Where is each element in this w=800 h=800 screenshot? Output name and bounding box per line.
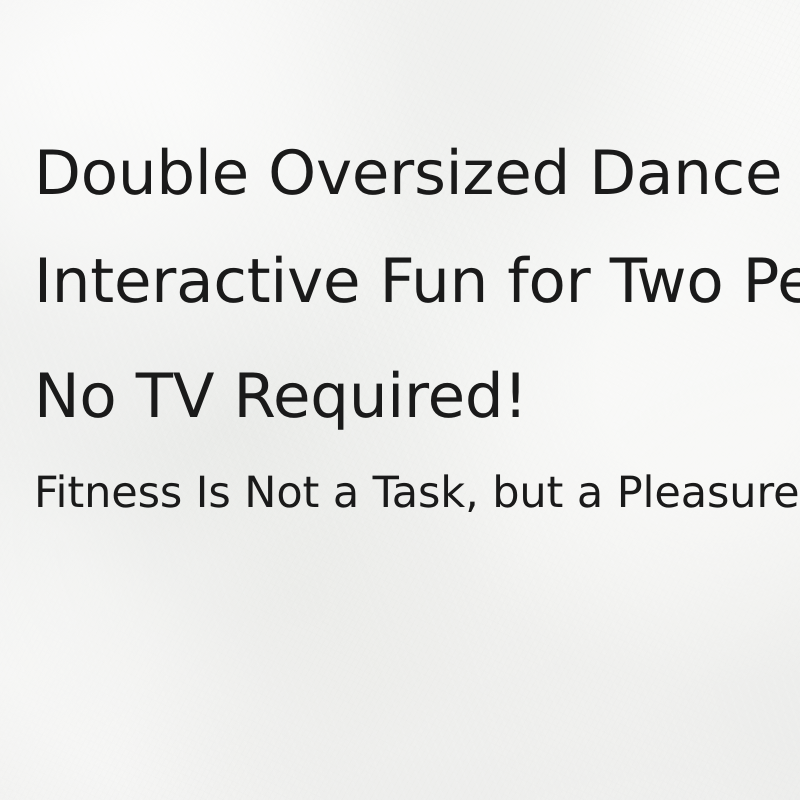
headline-line-1: Double Oversized Dance Mat bbox=[34, 143, 800, 204]
headline-line-2: Interactive Fun for Two People bbox=[34, 251, 800, 312]
headline-line-3: No TV Required! bbox=[34, 366, 528, 427]
marketing-copy-block: Double Oversized Dance Mat Interactive F… bbox=[0, 0, 800, 800]
product-marketing-poster: Double Oversized Dance Mat Interactive F… bbox=[0, 0, 800, 800]
subheadline-line-4: Fitness Is Not a Task, but a Pleasure bbox=[34, 472, 799, 515]
